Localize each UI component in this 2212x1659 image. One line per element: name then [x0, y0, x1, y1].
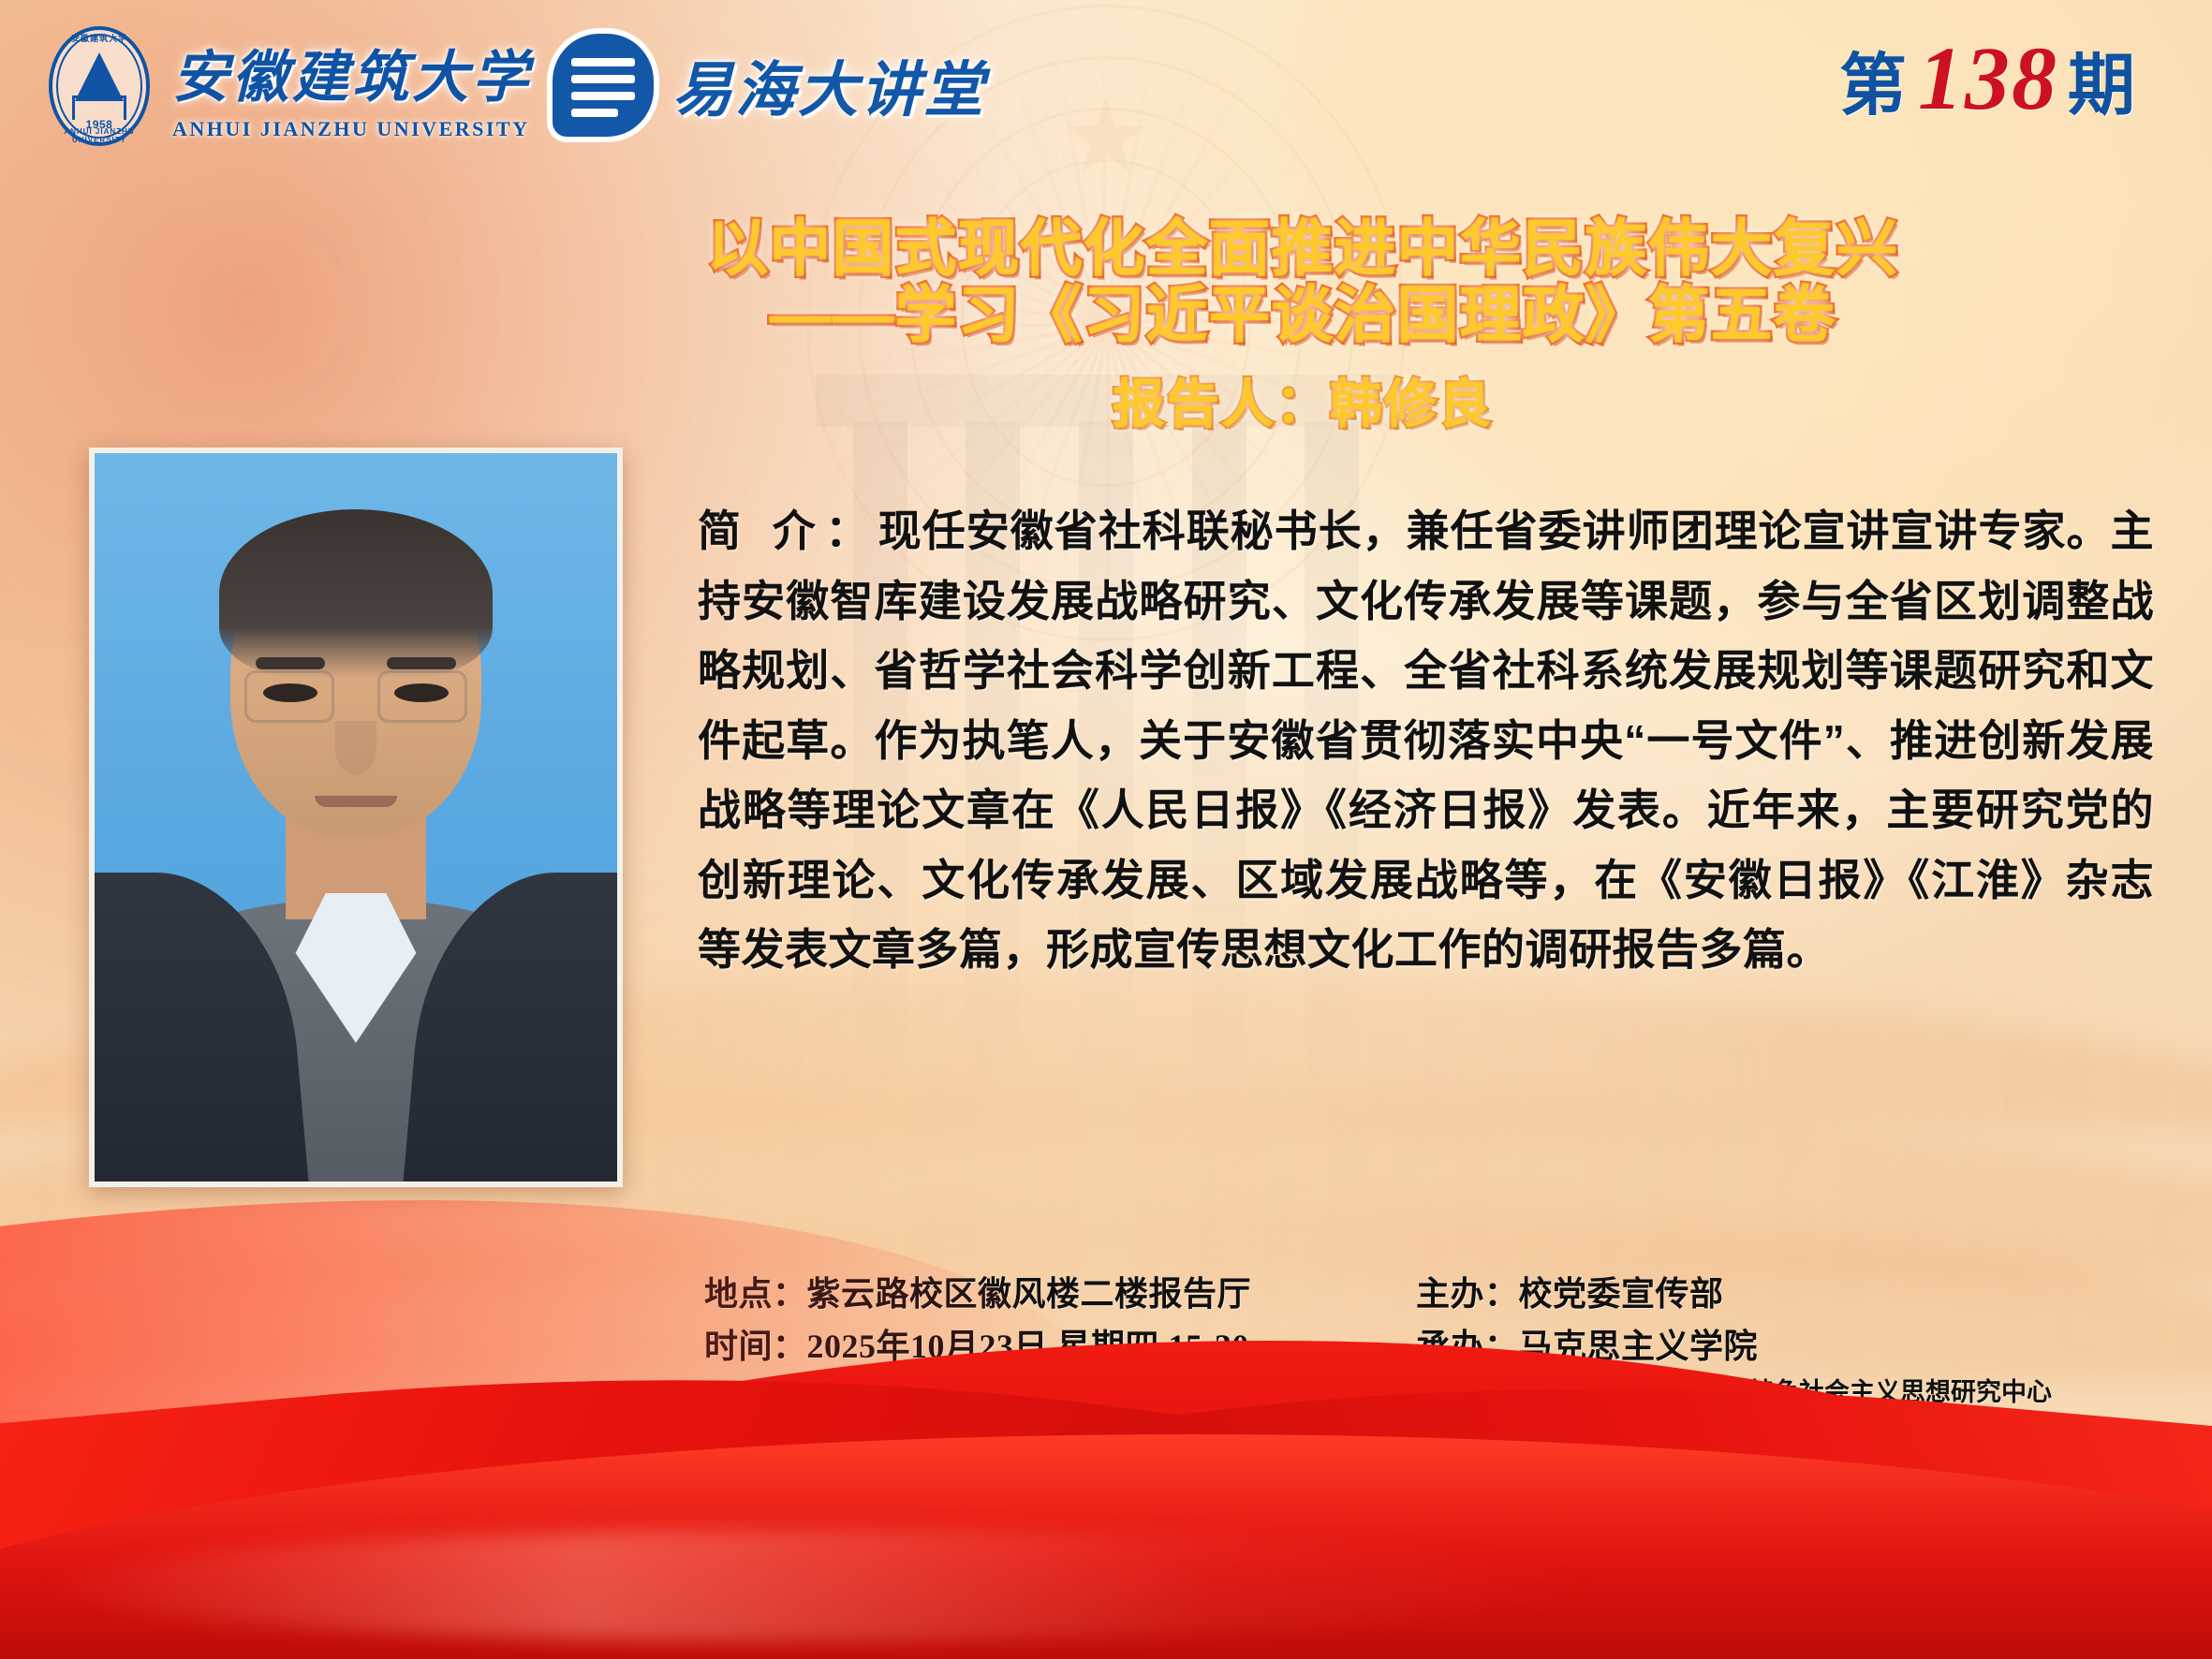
- speaker-label: 报告人：: [1113, 374, 1330, 433]
- title-block: 以中国式现代化全面推进中华民族伟大复兴 ——学习《习近平谈治国理政》第五卷 报告…: [450, 215, 2156, 438]
- bio-text: 现任安徽省社科联秘书长，兼任省委讲师团理论宣讲宣讲专家。主持安徽智库建设发展战略…: [698, 507, 2154, 974]
- university-name-cn: 安徽建筑大学: [172, 32, 532, 113]
- red-silk-ribbon-decoration: [0, 1135, 2212, 1659]
- title-line-2: ——学习《习近平谈治国理政》第五卷: [450, 282, 2156, 348]
- speaker-line: 报告人：韩修良: [450, 362, 2156, 438]
- bio-paragraph: 简 介：现任安徽省社科联秘书长，兼任省委讲师团理论宣讲宣讲专家。主持安徽智库建设…: [698, 496, 2154, 985]
- speaker-bio: 简 介：现任安徽省社科联秘书长，兼任省委讲师团理论宣讲宣讲专家。主持安徽智库建设…: [698, 496, 2154, 985]
- seal-arc-bottom-text: ANHUI JIANZHU UNIVERSITY: [49, 127, 150, 144]
- forum-logo-block: 易海大讲堂: [553, 34, 986, 137]
- issue-badge: 第 138 期: [1839, 26, 2137, 130]
- speech-bubble-book-icon: [553, 34, 654, 137]
- forum-name: 易海大讲堂: [672, 42, 986, 128]
- university-name-block: 安徽建筑大学 ANHUI JIANZHU UNIVERSITY: [172, 32, 532, 141]
- issue-number: 138: [1918, 26, 2058, 130]
- university-logo-block: 安徽建筑大学 1958 ANHUI JIANZHU UNIVERSITY 安徽建…: [49, 26, 532, 146]
- issue-prefix: 第: [1839, 30, 1909, 128]
- issue-suffix: 期: [2068, 30, 2137, 128]
- title-line-1: 以中国式现代化全面推进中华民族伟大复兴: [450, 215, 2156, 282]
- speaker-portrait: [89, 448, 623, 1187]
- speaker-name: 韩修良: [1330, 374, 1493, 433]
- university-name-en: ANHUI JIANZHU UNIVERSITY: [172, 117, 532, 141]
- university-seal-icon: 安徽建筑大学 1958 ANHUI JIANZHU UNIVERSITY: [49, 26, 150, 146]
- seal-arc-top-text: 安徽建筑大学: [49, 32, 150, 44]
- poster-header: 安徽建筑大学 1958 ANHUI JIANZHU UNIVERSITY 安徽建…: [0, 0, 2212, 169]
- bio-label: 简 介：: [698, 507, 878, 555]
- poster-canvas: ★ 安徽建筑大学 1958 ANHUI JIANZHU UNIVERSITY 安…: [0, 0, 2212, 1659]
